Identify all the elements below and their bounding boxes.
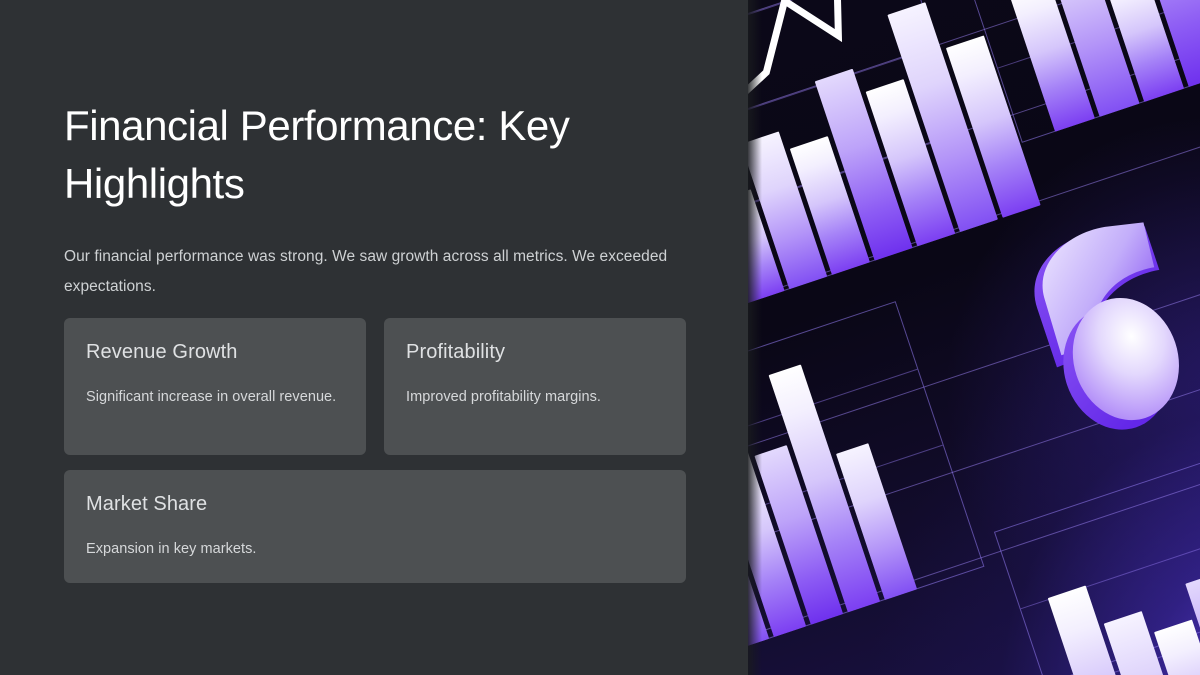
card-row-bottom: Market Share Expansion in key markets. bbox=[64, 470, 686, 583]
highlight-card-profitability[interactable]: Profitability Improved profitability mar… bbox=[384, 318, 686, 455]
card-row-top: Revenue Growth Significant increase in o… bbox=[64, 318, 686, 455]
card-title: Profitability bbox=[406, 340, 664, 364]
page-title: Financial Performance: Key Highlights bbox=[64, 97, 684, 213]
highlight-card-revenue-growth[interactable]: Revenue Growth Significant increase in o… bbox=[64, 318, 366, 455]
artwork-panel bbox=[748, 0, 1200, 675]
page-subtitle: Our financial performance was strong. We… bbox=[64, 242, 674, 302]
card-description: Significant increase in overall revenue. bbox=[86, 383, 344, 411]
content-panel: Financial Performance: Key Highlights Ou… bbox=[0, 0, 748, 675]
card-title: Market Share bbox=[86, 492, 664, 516]
card-description: Expansion in key markets. bbox=[86, 535, 664, 563]
highlight-card-market-share[interactable]: Market Share Expansion in key markets. bbox=[64, 470, 686, 583]
donut-chart-3d bbox=[997, 201, 1200, 457]
slide-root: Financial Performance: Key Highlights Ou… bbox=[0, 0, 1200, 675]
highlight-card-group: Revenue Growth Significant increase in o… bbox=[64, 318, 686, 598]
artwork-scene bbox=[748, 0, 1200, 675]
card-description: Improved profitability margins. bbox=[406, 383, 664, 411]
card-title: Revenue Growth bbox=[86, 340, 344, 364]
